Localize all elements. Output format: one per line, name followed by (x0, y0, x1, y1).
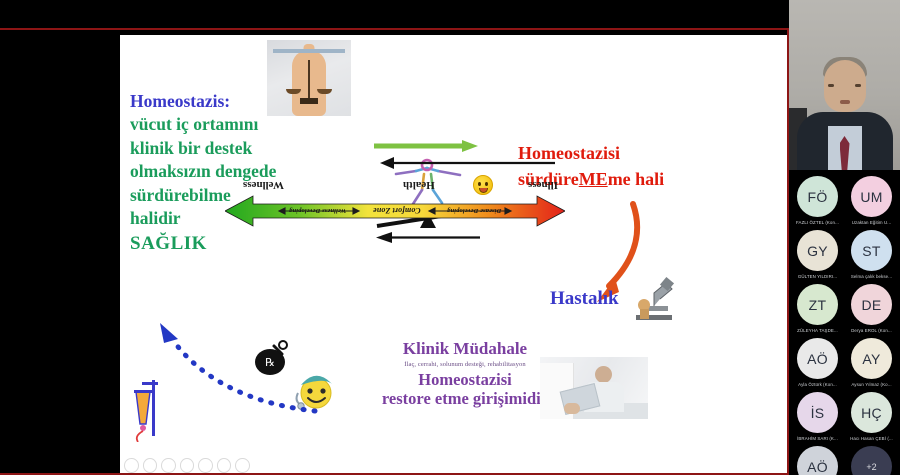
avatar: AY (851, 338, 892, 379)
pen-tool-icon[interactable] (161, 458, 176, 473)
participant-tile[interactable]: AÖ (794, 446, 841, 475)
avatar: İS (797, 392, 838, 433)
participant-row: AÖAyla Öztürk (Kon...AYAysun Yılmaz (Ko.… (792, 338, 897, 387)
wellness-illness-scale: Wellness Health Illness (225, 157, 665, 292)
participant-row: ZTZÜLEYHA TAŞDE...DEDerya EROL (Kon... (792, 284, 897, 333)
blue-dotted-arrow-icon (150, 323, 320, 421)
participant-name: ZÜLEYHA TAŞDE... (797, 328, 838, 333)
participant-name: Ayla Öztürk (Kon... (798, 382, 837, 387)
active-speaker-video[interactable] (789, 0, 900, 170)
scale-label-wellness: Wellness (243, 179, 284, 191)
participant-name: GÜLTEN YILDIRI... (798, 274, 837, 279)
participant-name: FAZLI ÖZTEL (Kon... (796, 220, 839, 225)
scale-zone-wellness-developing: Wellness Developing (289, 207, 346, 214)
green-right-arrow-icon (374, 140, 478, 152)
participant-row: GYGÜLTEN YILDIRI...STSelma çalık bekse..… (792, 230, 897, 279)
participant-tile[interactable]: STSelma çalık bekse... (848, 230, 895, 279)
scale-left-arrow-icon (380, 157, 555, 169)
homeostasis-line-5: halidir (130, 208, 181, 228)
participant-name: Derya EROL (Kon... (851, 328, 892, 333)
pointer-tool-icon[interactable] (124, 458, 139, 473)
homeostasis-line-1: vücut iç ortamını (130, 114, 258, 134)
participant-row: AÖ+2 (792, 446, 897, 475)
participant-name: İBRAHİM SARI (K... (797, 436, 838, 441)
avatar: DE (851, 284, 892, 325)
meeting-window: Homeostazis: vücut iç ortamını klinik bi… (0, 0, 900, 475)
scale-zone-comfort: Comfort Zone (373, 206, 421, 215)
scale-label-health: Health (403, 179, 435, 191)
participant-tile[interactable]: İSİBRAHİM SARI (K... (794, 392, 841, 441)
participant-tile[interactable]: DEDerya EROL (Kon... (848, 284, 895, 333)
participant-tile[interactable]: UMUzaktan Eğitim U... (848, 176, 895, 225)
avatar: ST (851, 230, 892, 271)
stamp-tool-icon[interactable] (198, 458, 213, 473)
participant-grid: FÖFAZLI ÖZTEL (Kon...UMUzaktan Eğitim U.… (789, 170, 900, 475)
participant-name: Hacı Hasan ÇEBİ (... (850, 436, 893, 441)
doctor-with-patient-photo (540, 357, 648, 419)
scale-label-illness: Illness (528, 179, 558, 191)
avatar: ZT (797, 284, 838, 325)
avatar: HÇ (851, 392, 892, 433)
avatar: AÖ (797, 338, 838, 379)
participant-row: FÖFAZLI ÖZTEL (Kon...UMUzaktan Eğitim U.… (792, 176, 897, 225)
homeostasis-title: Homeostazis: (130, 90, 350, 113)
overflow-badge[interactable]: +2 (851, 446, 892, 475)
hastalik-label: Hastalık (550, 288, 619, 310)
more-tool-icon[interactable] (235, 458, 250, 473)
homeostasis-line-2: klinik bir destek (130, 138, 252, 158)
eraser-tool-icon[interactable] (180, 458, 195, 473)
select-tool-icon[interactable] (143, 458, 158, 473)
participant-tile[interactable]: ZTZÜLEYHA TAŞDE... (794, 284, 841, 333)
participant-tile[interactable]: AYAysun Yılmaz (Ko... (848, 338, 895, 387)
clear-tool-icon[interactable] (217, 458, 232, 473)
presentation-slide: Homeostazis: vücut iç ortamını klinik bi… (120, 35, 789, 475)
annotation-toolbar[interactable] (120, 455, 250, 475)
avatar: UM (851, 176, 892, 217)
screen-share-stage: Homeostazis: vücut iç ortamını klinik bi… (0, 28, 789, 475)
sick-face-emoji (473, 175, 493, 195)
homeostasis-line-4: sürdürebilme (130, 185, 231, 205)
participant-name: Uzaktan Eğitim U... (852, 220, 891, 225)
participant-tile[interactable]: HÇHacı Hasan ÇEBİ (... (848, 392, 895, 441)
avatar: GY (797, 230, 838, 271)
participant-name: Selma çalık bekse... (851, 274, 892, 279)
participant-overflow-tile[interactable]: +2 (848, 446, 895, 475)
microscope-image (632, 273, 678, 323)
clinical-intervention-title: Klinik Müdahale (305, 340, 625, 359)
avatar: AÖ (797, 446, 838, 475)
participant-row: İSİBRAHİM SARI (K...HÇHacı Hasan ÇEBİ (.… (792, 392, 897, 441)
scale-zone-disease-developing: Disease Developing (447, 207, 501, 214)
avatar: FÖ (797, 176, 838, 217)
participant-name: Aysun Yılmaz (Ko... (851, 382, 891, 387)
participant-tile[interactable]: GYGÜLTEN YILDIRI... (794, 230, 841, 279)
participant-tile[interactable]: AÖAyla Öztürk (Kon... (794, 338, 841, 387)
participant-tile[interactable]: FÖFAZLI ÖZTEL (Kon... (794, 176, 841, 225)
participant-rail: FÖFAZLI ÖZTEL (Kon...UMUzaktan Eğitim U.… (789, 0, 900, 475)
